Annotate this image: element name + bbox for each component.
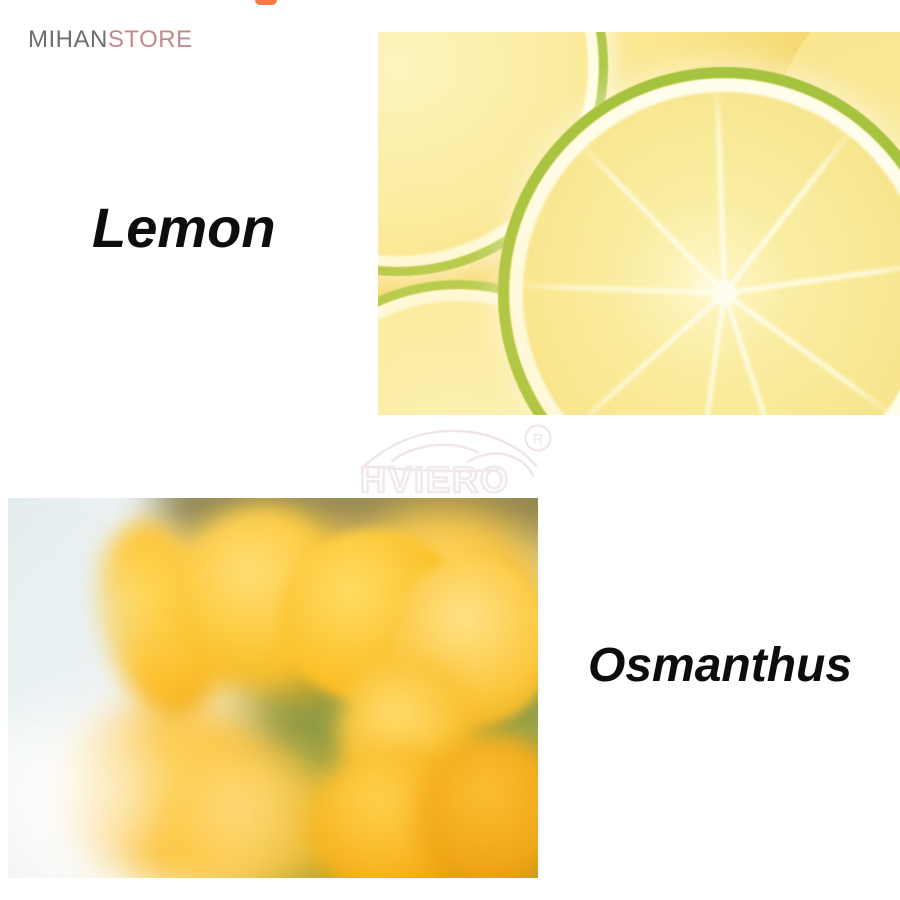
product-scent-variants-page: MIHANSTORE Lemon — [0, 0, 900, 900]
car-silhouette-icon — [364, 431, 536, 476]
brand-watermark-text: HVIERO — [360, 459, 510, 496]
svg-text:R: R — [533, 431, 544, 448]
lemon-image — [378, 32, 900, 415]
lemon-variant-label: Lemon — [92, 195, 276, 260]
registered-mark-icon: R — [526, 426, 551, 451]
store-watermark-primary: MIHAN — [28, 26, 108, 53]
store-watermark-secondary: STORE — [108, 26, 193, 53]
store-watermark: MIHANSTORE — [28, 26, 193, 54]
osmanthus-image — [8, 498, 538, 878]
osmanthus-variant-label: Osmanthus — [588, 638, 852, 693]
brand-watermark: R HVIERO — [358, 418, 580, 496]
top-accent-sliver — [255, 0, 277, 5]
